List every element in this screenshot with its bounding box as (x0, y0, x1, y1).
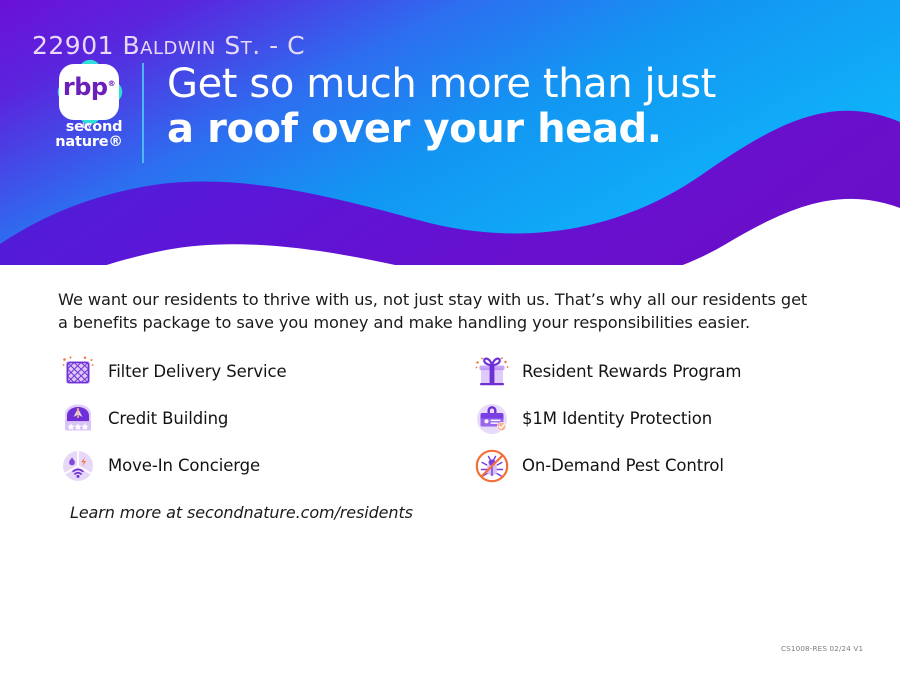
headline-line-2: a roof over your head. (167, 109, 716, 150)
utilities-circle-icon (58, 446, 98, 486)
logo-trademark: ® (108, 79, 116, 88)
intro-paragraph: We want our residents to thrive with us,… (58, 288, 818, 334)
logo-brand-line-2: nature® (45, 135, 133, 150)
benefit-label: Move-In Concierge (108, 456, 260, 475)
hero-banner: 22901 Baldwin St. - C rbp® by second nat… (0, 0, 900, 265)
benefit-item-identity-protection: $1M Identity Protection (472, 395, 872, 442)
logo-second-nature-text: second nature® (45, 120, 133, 150)
no-bug-icon (472, 446, 512, 486)
benefit-label: Resident Rewards Program (522, 362, 741, 381)
gift-icon (472, 352, 512, 392)
benefit-label: On-Demand Pest Control (522, 456, 724, 475)
benefit-label: $1M Identity Protection (522, 409, 712, 428)
benefits-column-left: Filter Delivery Service Credit Building (58, 348, 458, 489)
benefit-label: Filter Delivery Service (108, 362, 287, 381)
logo-rbp-label: rbp (63, 73, 108, 101)
learn-more-text: Learn more at secondnature.com/residents (70, 503, 413, 522)
benefit-item-filter-delivery-service: Filter Delivery Service (58, 348, 458, 395)
benefits-column-right: Resident Rewards Program (472, 348, 872, 489)
id-card-lock-icon (472, 399, 512, 439)
page-title: 22901 Baldwin St. - C (32, 33, 305, 58)
flyer-page: 22901 Baldwin St. - C rbp® by second nat… (0, 0, 900, 675)
filter-icon (58, 352, 98, 392)
benefit-item-pest-control: On-Demand Pest Control (472, 442, 872, 489)
hero-headline: Get so much more than just a roof over y… (167, 64, 716, 150)
credit-badge-icon (58, 399, 98, 439)
logo-rbp-text: rbp® (51, 75, 127, 99)
headline-line-1: Get so much more than just (167, 64, 716, 105)
rbp-logo: rbp® by second nature® (47, 62, 135, 162)
vertical-divider (142, 63, 144, 163)
logo-brand-line-1: second (45, 120, 133, 135)
benefit-label: Credit Building (108, 409, 228, 428)
benefit-item-resident-rewards-program: Resident Rewards Program (472, 348, 872, 395)
document-code: CS1008-RES 02/24 V1 (781, 644, 863, 653)
benefit-item-credit-building: Credit Building (58, 395, 458, 442)
benefit-item-move-in-concierge: Move-In Concierge (58, 442, 458, 489)
